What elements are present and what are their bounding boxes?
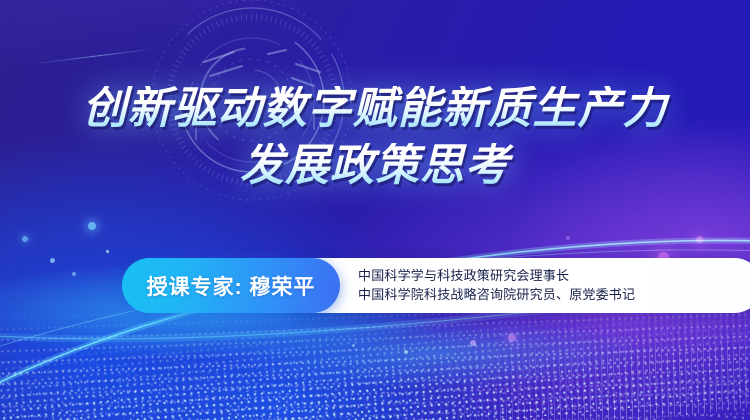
title-line-1: 创新驱动数字赋能新质生产力: [0, 86, 750, 133]
bokeh-dot: [696, 236, 703, 243]
speaker-badge: 授课专家: 穆荣平: [122, 258, 340, 313]
speaker-badge-label: 授课专家: 穆荣平: [147, 271, 316, 301]
bokeh-dot: [404, 350, 408, 354]
bokeh-dot: [566, 236, 570, 240]
title-line-2: 发展政策思考: [0, 143, 750, 190]
affiliation-line-2: 中国科学院科技战略咨询院研究员、原党委书记: [358, 287, 635, 303]
bokeh-dot: [352, 344, 355, 347]
promo-poster: 创新驱动数字赋能新质生产力 发展政策思考 授课专家: 穆荣平 中国科学学与科技政…: [0, 0, 750, 420]
poster-title: 创新驱动数字赋能新质生产力 发展政策思考: [0, 86, 750, 189]
affiliation-line-1: 中国科学学与科技政策研究会理事长: [358, 268, 635, 284]
light-streak-decoration: [30, 48, 154, 64]
bokeh-dot: [106, 250, 109, 253]
speaker-bar: 授课专家: 穆荣平 中国科学学与科技政策研究会理事长 中国科学院科技战略咨询院研…: [122, 258, 635, 313]
bokeh-dot: [72, 272, 76, 276]
bokeh-dot: [88, 222, 96, 230]
bokeh-dot: [470, 340, 476, 346]
bokeh-dot: [508, 334, 516, 342]
bokeh-dot: [22, 236, 28, 242]
speaker-affiliations: 中国科学学与科技政策研究会理事长 中国科学院科技战略咨询院研究员、原党委书记: [358, 258, 635, 313]
bokeh-dot: [50, 258, 55, 263]
